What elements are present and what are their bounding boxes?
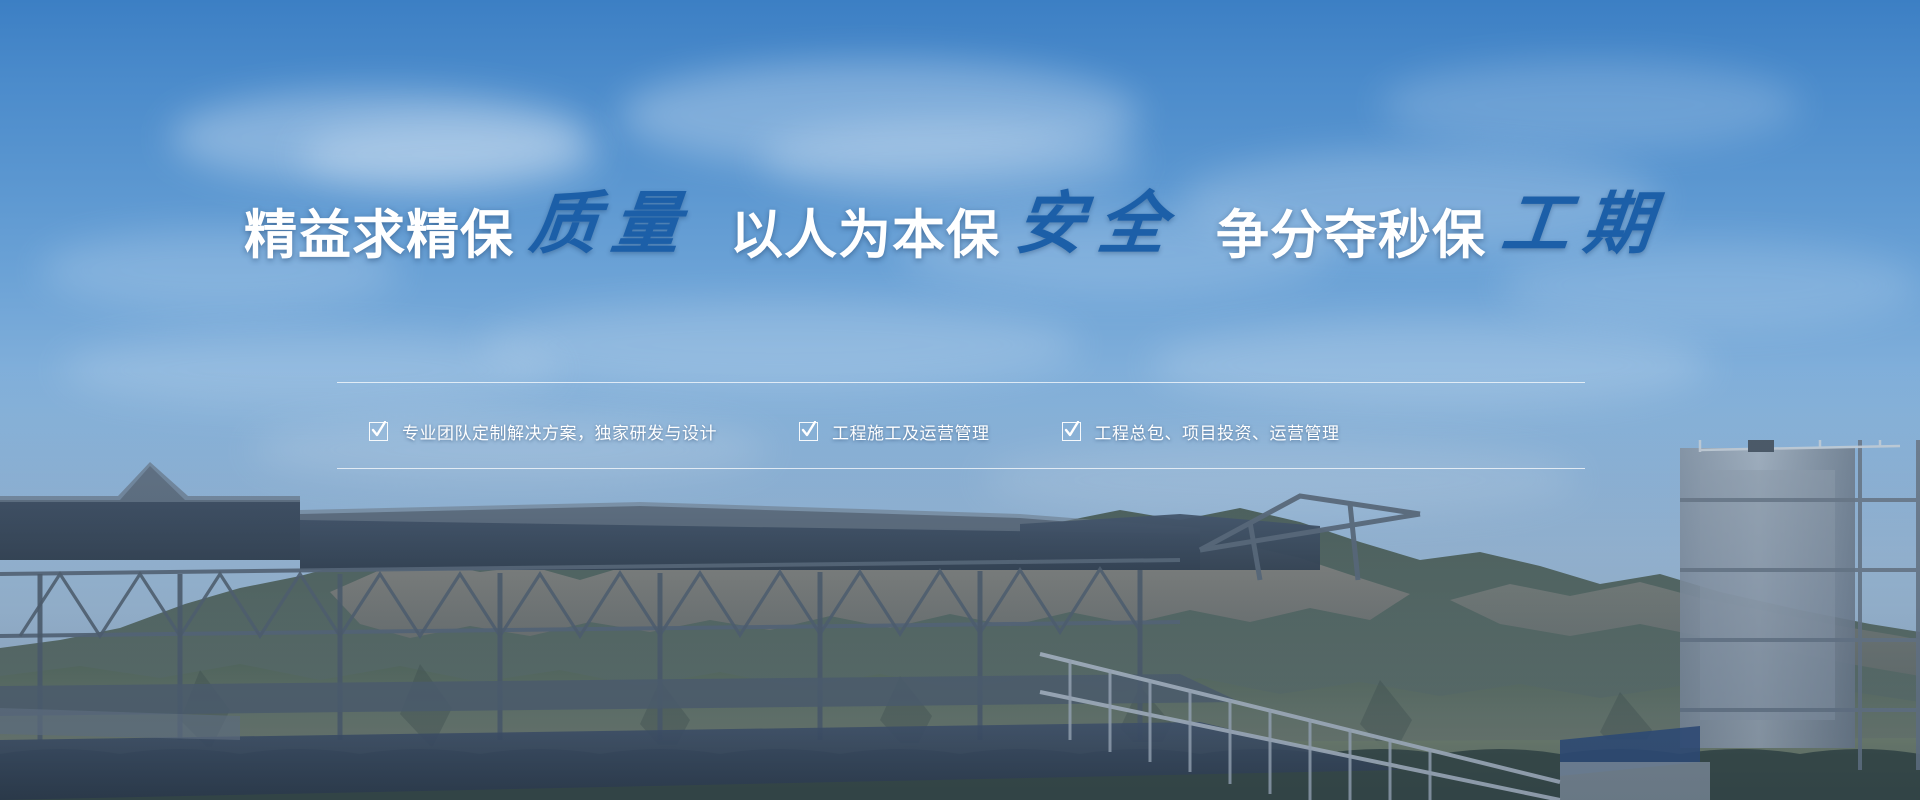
headline-segment-quality-brush: 质量 (526, 190, 697, 258)
feature-list: 专业团队定制解决方案，独家研发与设计 工程施工及运营管理 工程总包、项目投资、运… (337, 396, 1585, 466)
feature-item-construction: 工程施工及运营管理 (799, 419, 990, 444)
feature-item-epc: 工程总包、项目投资、运营管理 (1062, 419, 1340, 444)
feature-item-solutions: 专业团队定制解决方案，独家研发与设计 (369, 419, 717, 444)
divider-bottom (337, 468, 1585, 469)
feature-label: 专业团队定制解决方案，独家研发与设计 (402, 419, 717, 444)
headline-segment-schedule-brush: 工期 (1498, 190, 1669, 258)
checkbox-checked-icon (1062, 422, 1081, 441)
checkbox-checked-icon (799, 422, 818, 441)
hero-banner: 精益求精保质量以人为本保安全争分夺秒保工期 专业团队定制解决方案，独家研发与设计 (0, 0, 1920, 800)
headline-segment-safety-brush: 安全 (1012, 190, 1183, 258)
headline-segment-safety-prefix: 以人为本保 (730, 209, 1000, 262)
banner-text-overlay: 精益求精保质量以人为本保安全争分夺秒保工期 专业团队定制解决方案，独家研发与设计 (0, 0, 1920, 800)
headline-segment-quality-prefix: 精益求精保 (244, 209, 514, 262)
checkbox-checked-icon (369, 422, 388, 441)
feature-label: 工程施工及运营管理 (832, 419, 990, 444)
feature-label: 工程总包、项目投资、运营管理 (1095, 419, 1340, 444)
divider-top (337, 382, 1585, 383)
banner-headline: 精益求精保质量以人为本保安全争分夺秒保工期 (0, 196, 1920, 264)
headline-segment-schedule-prefix: 争分夺秒保 (1216, 209, 1486, 262)
